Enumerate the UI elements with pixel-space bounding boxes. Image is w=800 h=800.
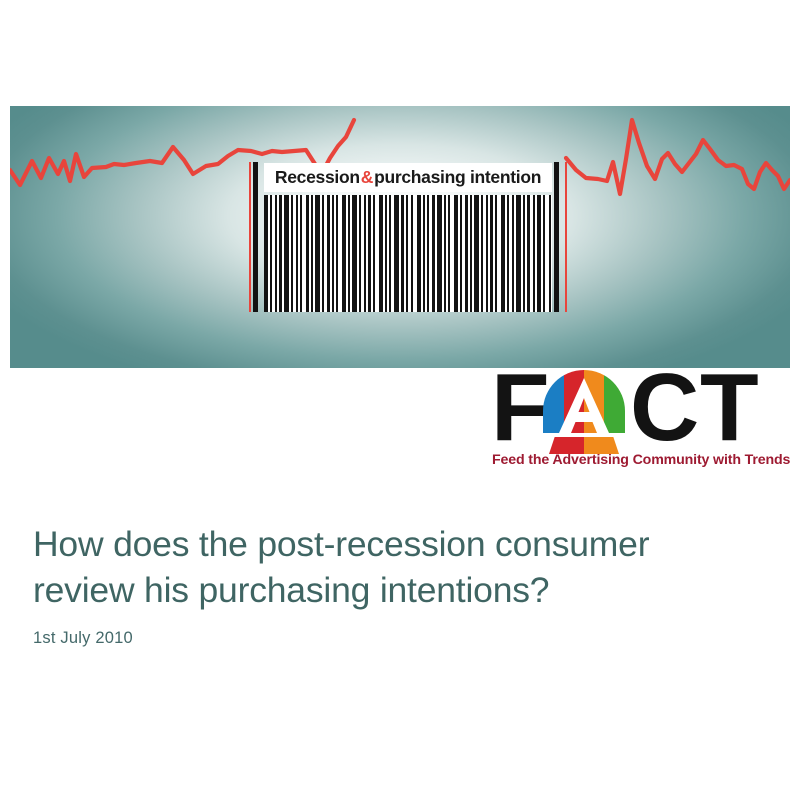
barcode-title-suffix: purchasing intention (374, 167, 541, 188)
fact-logo: F (491, 367, 793, 480)
page-title: How does the post-recession consumer rev… (33, 521, 763, 613)
barcode-edge-bar-left (253, 162, 258, 312)
trend-line-right (566, 120, 790, 194)
barcode-title-prefix: Recession (275, 167, 360, 188)
fact-logo-tagline: Feed the Advertising Community with Tren… (492, 452, 790, 468)
title-block: How does the post-recession consumer rev… (33, 521, 763, 648)
barcode-edge-bar-right (554, 162, 559, 312)
fact-letter-f: F (491, 360, 548, 456)
page-date: 1st July 2010 (33, 629, 763, 648)
fact-logo-letters: F (491, 367, 793, 455)
barcode-title-ampersand: & (360, 167, 374, 188)
barcode-bars (264, 195, 552, 312)
barcode-red-line-left (249, 162, 251, 312)
fact-letter-t: T (700, 360, 757, 456)
barcode-red-line-right (565, 162, 567, 312)
fact-letter-c: C (630, 360, 697, 456)
fact-letter-a-pie-icon (543, 370, 625, 454)
barcode-title-text: Recession & purchasing intention (264, 163, 552, 192)
barcode-graphic: Recession & purchasing intention (247, 162, 570, 312)
banner-image: Recession & purchasing intention (10, 106, 790, 368)
